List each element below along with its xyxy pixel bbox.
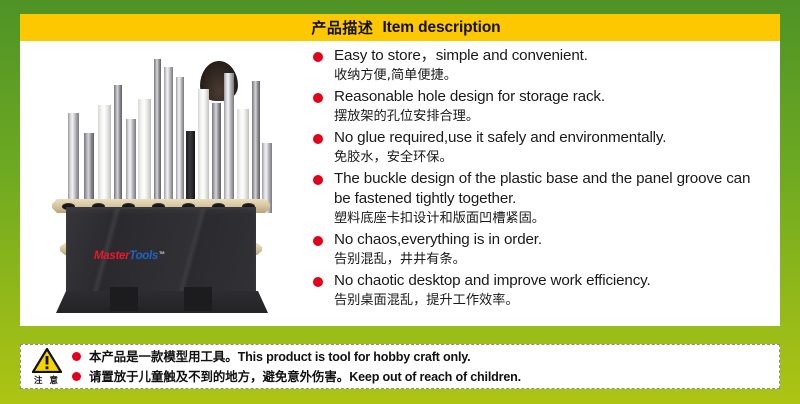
product-photo: MasterToolsTM bbox=[20, 41, 302, 326]
feature-text-cn: 收纳方便,简单便捷。 bbox=[334, 66, 770, 85]
feature-text-cn: 告别桌面混乱，提升工作效率。 bbox=[334, 291, 770, 310]
feature-text-en: No chaotic desktop and improve work effi… bbox=[334, 271, 770, 291]
feature-text-cn: 告别混乱，井井有条。 bbox=[334, 250, 770, 269]
tool-item bbox=[164, 67, 173, 213]
tool-item bbox=[237, 109, 249, 213]
content-card: 产品描述 Item description bbox=[20, 14, 780, 326]
tool-stand-illustration: MasterToolsTM bbox=[38, 47, 284, 323]
feature-text-cn: 摆放架的孔位安排合理。 bbox=[334, 107, 770, 126]
bullet-dot-icon bbox=[313, 52, 323, 62]
base-notch bbox=[110, 287, 138, 311]
description-pane: Easy to store，simple and convenient. 收纳方… bbox=[302, 41, 780, 326]
bullet-dot-icon bbox=[313, 175, 323, 185]
list-item: No chaotic desktop and improve work effi… bbox=[312, 271, 770, 310]
trademark-symbol: TM bbox=[159, 250, 164, 255]
list-item: No chaos,everything is in order. 告别混乱，井井… bbox=[312, 230, 770, 269]
feature-text-cn: 免胶水，安全环保。 bbox=[334, 148, 770, 167]
tool-item bbox=[154, 59, 161, 213]
feature-text-en: Reasonable hole design for storage rack. bbox=[334, 87, 770, 107]
tool-item bbox=[114, 85, 122, 213]
base-notch bbox=[184, 287, 212, 311]
tool-item bbox=[98, 105, 111, 213]
feature-text-en: No glue required,use it safely and envir… bbox=[334, 128, 770, 148]
tool-item bbox=[212, 103, 221, 213]
warning-line: 请置放于儿童触及不到的地方，避免意外伤害。Keep out of reach o… bbox=[71, 367, 773, 387]
list-item: No glue required,use it safely and envir… bbox=[312, 128, 770, 167]
feature-text-en: Easy to store，simple and convenient. bbox=[334, 46, 770, 66]
warning-text-en: This product is tool for hobby craft onl… bbox=[238, 350, 471, 364]
card-body: MasterToolsTM Easy to store，simple and c… bbox=[20, 41, 780, 326]
tool-item bbox=[138, 99, 151, 213]
logo-text-master: Master bbox=[94, 250, 129, 262]
bullet-dot-icon bbox=[72, 372, 81, 381]
bullet-dot-icon bbox=[72, 352, 81, 361]
section-header-bar: 产品描述 Item description bbox=[20, 14, 780, 41]
list-item: The buckle design of the plastic base an… bbox=[312, 169, 770, 228]
feature-text-cn: 塑料底座卡扣设计和版面凹槽紧固。 bbox=[334, 209, 770, 228]
tool-item bbox=[198, 89, 209, 213]
warning-text-cn: 请置放于儿童触及不到的地方，避免意外伤害。 bbox=[89, 369, 349, 384]
feature-list: Easy to store，simple and convenient. 收纳方… bbox=[312, 46, 770, 310]
bullet-dot-icon bbox=[313, 236, 323, 246]
plastic-base-foot bbox=[56, 291, 268, 313]
section-title-chinese: 产品描述 bbox=[311, 17, 373, 38]
product-info-banner: 产品描述 Item description bbox=[0, 0, 800, 404]
feature-text-en: No chaos,everything is in order. bbox=[334, 230, 770, 250]
warning-text-lines: 本产品是一款模型用工具。This product is tool for hob… bbox=[67, 347, 773, 387]
tool-item bbox=[68, 113, 79, 213]
tool-item bbox=[176, 77, 184, 213]
warning-text-cn: 本产品是一款模型用工具。 bbox=[89, 349, 238, 364]
safety-warning-box: 注 意 本产品是一款模型用工具。This product is tool for… bbox=[20, 344, 780, 389]
bullet-dot-icon bbox=[313, 93, 323, 103]
warning-triangle-icon bbox=[32, 348, 62, 373]
bullet-dot-icon bbox=[313, 134, 323, 144]
section-title-english: Item description bbox=[382, 19, 500, 37]
warning-line: 本产品是一款模型用工具。This product is tool for hob… bbox=[71, 347, 773, 367]
bullet-dot-icon bbox=[313, 277, 323, 287]
list-item: Reasonable hole design for storage rack.… bbox=[312, 87, 770, 126]
tool-item bbox=[252, 81, 260, 213]
warning-label-chinese: 注 意 bbox=[34, 374, 60, 386]
master-tools-logo: MasterToolsTM bbox=[94, 251, 164, 263]
warning-text-en: Keep out of reach of children. bbox=[349, 370, 521, 384]
logo-text-tools: Tools bbox=[129, 250, 158, 262]
list-item: Easy to store，simple and convenient. 收纳方… bbox=[312, 46, 770, 85]
feature-text-en: The buckle design of the plastic base an… bbox=[334, 169, 770, 209]
tool-item bbox=[224, 73, 234, 213]
warning-icon-group: 注 意 bbox=[27, 347, 67, 387]
tool-item bbox=[126, 119, 136, 213]
